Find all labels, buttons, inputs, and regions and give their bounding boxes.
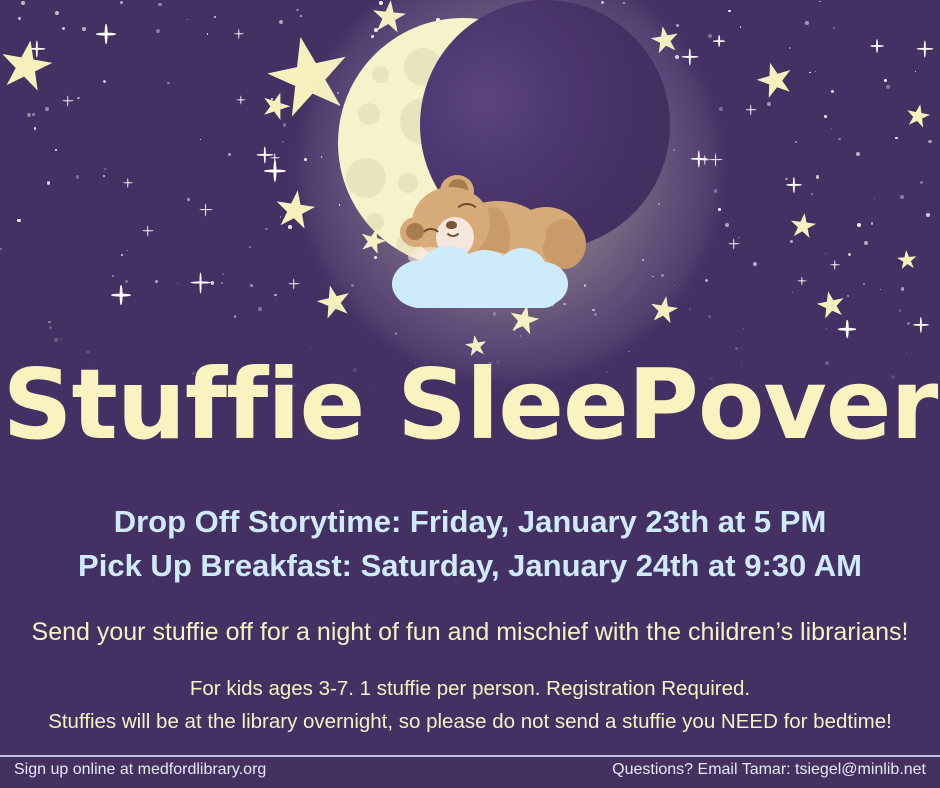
star-dot (49, 326, 53, 330)
star-dot (127, 250, 128, 251)
event-dates: Drop Off Storytime: Friday, January 23th… (0, 500, 940, 588)
star-dot (274, 294, 276, 296)
star-dot (34, 127, 36, 129)
star-dot (884, 79, 887, 82)
star-dot (211, 281, 215, 285)
star-dot (708, 34, 712, 38)
star-dot (740, 26, 742, 28)
sparkle-star-icon (916, 40, 933, 57)
sparkle-star-icon (745, 104, 756, 115)
star-dot (167, 82, 170, 85)
star-dot (863, 283, 866, 286)
star-dot (120, 1, 123, 4)
star-dot (282, 141, 284, 143)
sparkle-star-icon (830, 260, 840, 270)
star-dot (708, 315, 711, 318)
star-dot (753, 262, 757, 266)
star-dot (819, 1, 821, 3)
star-dot (187, 198, 190, 201)
star-dot (901, 287, 905, 291)
star-dot (258, 307, 262, 311)
star-dot (103, 80, 106, 83)
star-dot (112, 275, 113, 276)
sparkle-star-icon (234, 29, 244, 39)
star-dot (689, 308, 691, 310)
star-dot (874, 198, 876, 200)
star-dot (705, 279, 709, 283)
star-dot (276, 300, 277, 301)
sparkle-star-icon (264, 160, 286, 182)
sparkle-star-icon (123, 178, 133, 188)
star-dot (811, 193, 813, 195)
star-dot (288, 225, 292, 229)
star-dot (847, 295, 849, 297)
star-dot (826, 328, 827, 329)
star-dot (880, 289, 881, 290)
star-dot (824, 115, 828, 119)
star-dot (809, 72, 811, 74)
star-dot (222, 273, 224, 275)
star-dot (864, 241, 868, 245)
star-dot (848, 253, 851, 256)
star-dot (728, 10, 731, 13)
star-dot (926, 213, 930, 217)
star-dot (54, 338, 58, 342)
star-dot (805, 21, 809, 25)
star-dot (928, 140, 932, 144)
star-dot (718, 208, 721, 211)
star-dot (795, 141, 797, 143)
star-dot (825, 253, 826, 254)
star-dot (792, 292, 793, 293)
star-dot (156, 29, 160, 33)
star-dot (856, 152, 860, 156)
star-dot (228, 153, 231, 156)
star-dot (62, 27, 65, 30)
star-dot (920, 181, 923, 184)
star-dot (676, 24, 679, 27)
sparkle-star-icon (713, 35, 725, 47)
star-dot (915, 71, 917, 73)
star-dot (831, 90, 834, 93)
star-dot (900, 195, 904, 199)
sparkle-star-icon (199, 203, 212, 216)
star-dot (831, 128, 832, 129)
five-point-star-icon (814, 288, 847, 321)
star-dot (55, 11, 59, 15)
star-dot (45, 107, 49, 111)
star-dot (47, 181, 51, 185)
star-dot (60, 338, 62, 340)
fine-print-line-1: For kids ages 3-7. 1 stuffie per person.… (0, 672, 940, 705)
star-dot (790, 240, 793, 243)
five-point-star-icon (904, 102, 932, 130)
star-dot (283, 123, 287, 127)
cloud-icon (392, 246, 568, 308)
star-dot (279, 20, 283, 24)
star-dot (77, 97, 80, 100)
star-dot (886, 85, 890, 89)
star-dot (280, 216, 282, 218)
star-dot (103, 175, 105, 177)
star-dot (104, 168, 107, 171)
star-dot (17, 219, 21, 223)
star-dot (895, 137, 897, 139)
sparkle-star-icon (111, 285, 131, 305)
star-dot (871, 222, 874, 225)
star-dot (207, 33, 208, 34)
star-dot (250, 284, 254, 288)
star-dot (76, 175, 79, 178)
star-dot (815, 71, 816, 72)
sparkle-star-icon (870, 39, 884, 53)
star-dot (121, 254, 123, 256)
five-point-star-icon (896, 249, 918, 271)
sparkle-star-icon (797, 276, 806, 285)
star-dot (125, 280, 129, 284)
five-point-star-icon (258, 88, 293, 123)
star-dot (725, 223, 729, 227)
star-dot (200, 139, 201, 140)
five-point-star-icon (0, 36, 56, 96)
star-dot (27, 113, 31, 117)
star-dot (177, 283, 178, 284)
pick-up-line: Pick Up Breakfast: Saturday, January 24t… (0, 544, 940, 588)
sparkle-star-icon (142, 225, 153, 236)
star-dot (833, 27, 835, 29)
star-dot (344, 305, 345, 306)
sparkle-star-icon (288, 278, 299, 289)
star-dot (296, 9, 298, 11)
sparkle-star-icon (913, 317, 929, 333)
star-dot (32, 113, 35, 116)
star-dot (719, 107, 723, 111)
poster-canvas: Stuffie SleePover Drop Off Storytime: Fr… (0, 0, 940, 788)
sparkle-star-icon (728, 238, 739, 249)
star-dot (265, 228, 267, 230)
star-dot (789, 47, 791, 49)
star-dot (214, 16, 216, 18)
drop-off-line: Drop Off Storytime: Friday, January 23th… (0, 500, 940, 544)
star-dot (271, 98, 273, 100)
star-dot (18, 17, 21, 20)
fine-print: For kids ages 3-7. 1 stuffie per person.… (0, 672, 940, 738)
star-dot (155, 280, 158, 283)
star-dot (234, 315, 237, 318)
five-point-star-icon (753, 58, 798, 103)
star-dot (55, 149, 57, 151)
star-dot (300, 15, 302, 17)
sparkle-star-icon (96, 24, 116, 44)
star-dot (48, 321, 51, 324)
star-dot (0, 248, 2, 250)
footer-bar: Sign up online at medfordlibrary.org Que… (0, 755, 940, 788)
star-dot (907, 322, 910, 325)
star-dot (767, 102, 771, 106)
five-point-star-icon (789, 212, 818, 241)
sparkle-star-icon (838, 320, 856, 338)
sparkle-star-icon (62, 95, 73, 106)
star-dot (816, 175, 820, 179)
star-dot (158, 3, 162, 7)
footer-contact-text: Questions? Email Tamar: tsiegel@minlib.n… (612, 761, 926, 779)
star-dot (82, 27, 86, 31)
sparkle-star-icon (236, 95, 245, 104)
star-dot (857, 223, 861, 227)
fine-print-line-2: Stuffies will be at the library overnigh… (0, 705, 940, 738)
event-description: Send your stuffie off for a night of fun… (0, 617, 940, 647)
sparkle-star-icon (786, 177, 802, 193)
footer-signup-text: Sign up online at medfordlibrary.org (14, 761, 266, 779)
star-dot (899, 309, 902, 312)
star-dot (221, 282, 223, 284)
star-dot (838, 138, 840, 140)
poster-title: Stuffie SleePover (0, 356, 940, 453)
sparkle-star-icon (190, 272, 211, 293)
star-dot (249, 246, 251, 248)
star-dot (21, 1, 25, 5)
star-dot (743, 328, 744, 329)
star-dot (187, 19, 188, 20)
